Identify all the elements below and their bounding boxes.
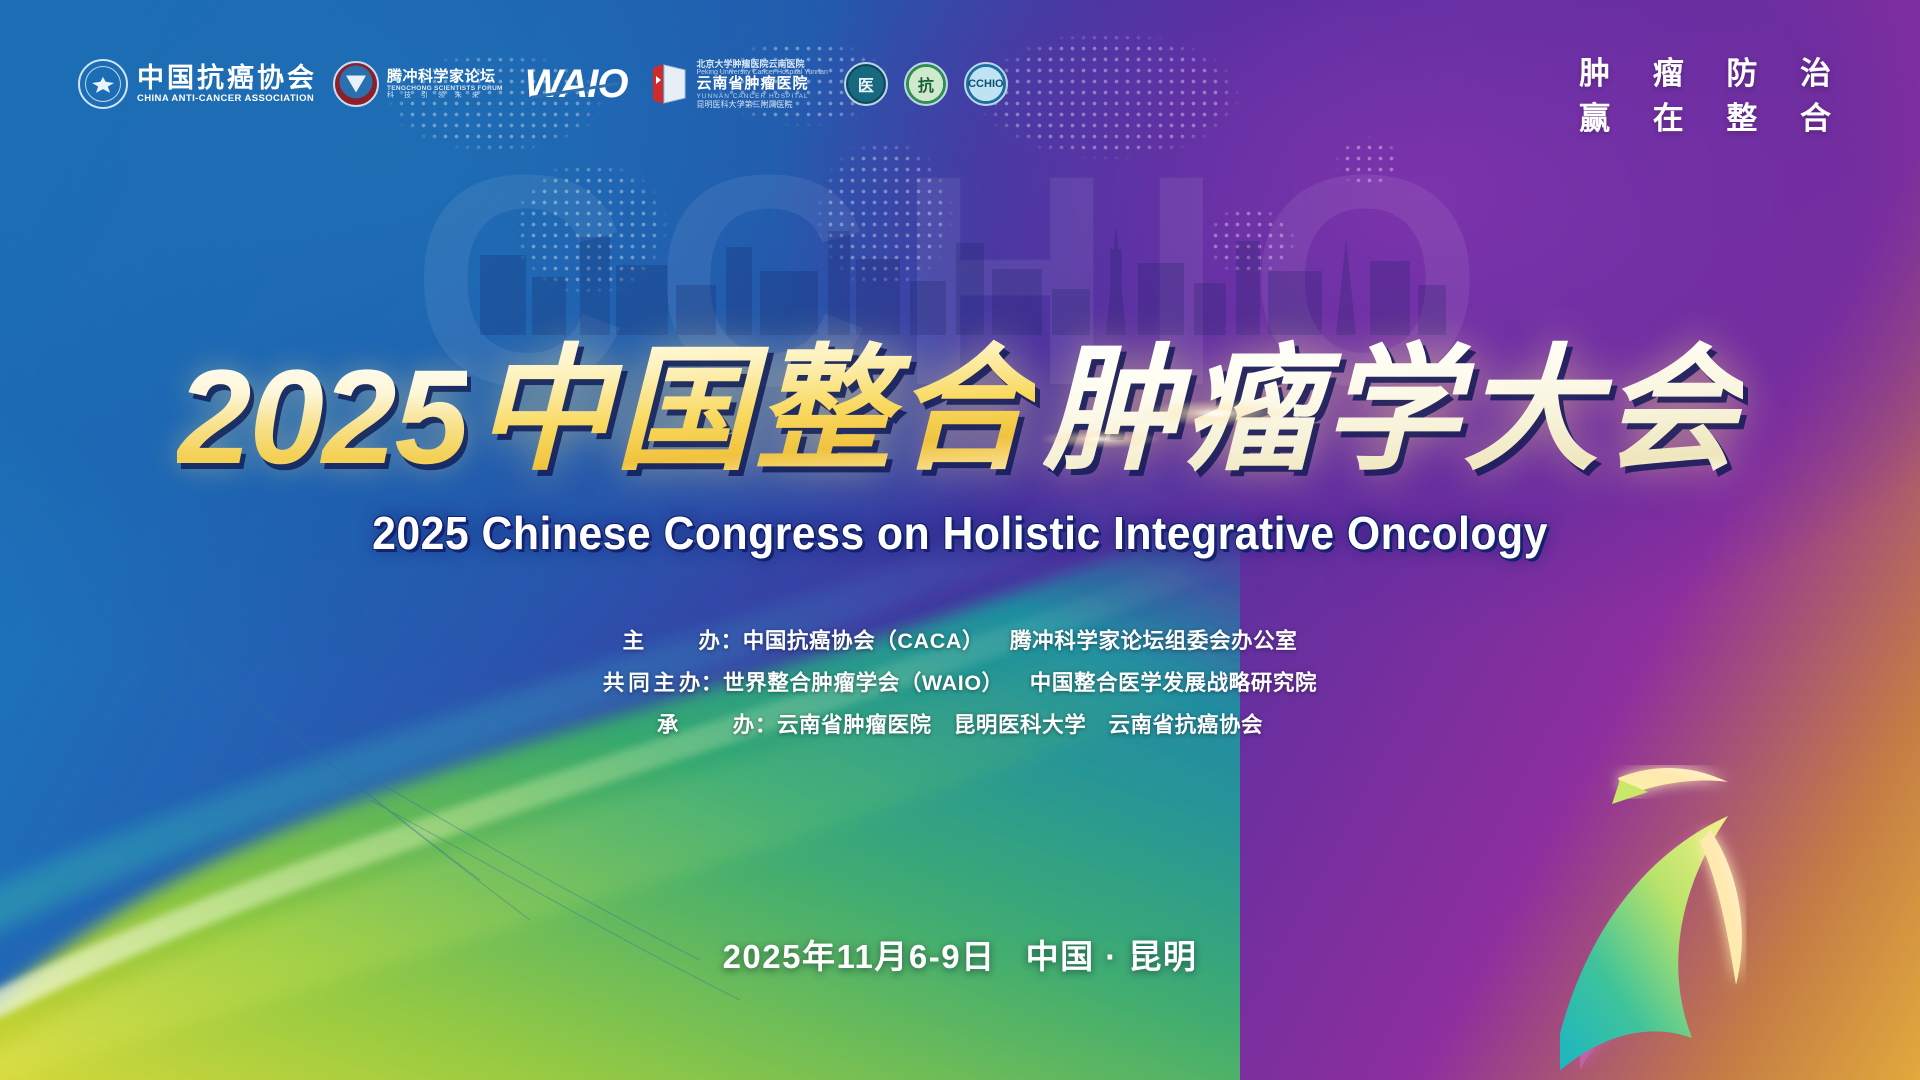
organizer-list: 主办：中国抗癌协会（CACA）腾冲科学家论坛组委会办公室 共同主办：世界整合肿瘤… [0,620,1920,746]
title-cn-gold: 中国整合 [475,330,1035,490]
organizer-row: 主办：中国抗癌协会（CACA）腾冲科学家论坛组委会办公室 [0,620,1920,662]
logo-yunnan-anti-cancer-society: 抗 [904,62,948,106]
slogan-line-1: 肿 瘤 防 治 [1562,52,1848,97]
event-date: 2025年11月6-9日 [723,938,996,975]
tengchong-name-cn: 腾冲科学家论坛 [387,68,503,85]
yacs-glyph: 抗 [918,72,934,96]
title-year: 2025 [177,343,467,492]
title-sparkle-1 [1140,400,1290,426]
logo-kunming-medical-university: 医 [844,62,888,106]
cchio-glyph: CCHIO [968,78,1003,90]
title-sparkle-2 [1040,430,1160,448]
peacock-emblem-decoration [1560,720,1890,1080]
organizer-value: 世界整合肿瘤学会（WAIO） [723,671,1004,695]
yunnan-hospital-mark-icon [649,62,689,106]
organizer-logo-bar: 中国抗癌协会 CHINA ANTI-CANCER ASSOCIATION 腾冲科… [78,48,1008,120]
organizer-value: 云南省肿瘤医院 昆明医科大学 云南省抗癌协会 [777,713,1263,737]
ynch-line3: 云南省肿瘤医院 [696,76,827,93]
slogan-line-2: 赢 在 整 合 [1562,97,1848,142]
organizer-value-2: 腾冲科学家论坛组委会办公室 [1010,629,1297,653]
logo-cchio: CCHIO [964,62,1008,106]
ynch-line5: 昆明医科大学第三附属医院 [696,101,827,110]
tengchong-seal-icon [333,61,379,107]
conference-banner: CCHIO [0,0,1920,1080]
event-location: 中国 · 昆明 [1026,938,1198,975]
english-subtitle: 2025 Chinese Congress on Holistic Integr… [67,506,1853,560]
logo-china-anti-cancer-association: 中国抗癌协会 CHINA ANTI-CANCER ASSOCIATION [78,59,317,109]
kmmu-glyph: 医 [858,72,874,96]
organizer-label: 主办 [623,620,721,662]
main-title: 2025中国整合肿瘤学大会 [0,300,1920,497]
organizer-row: 共同主办：世界整合肿瘤学会（WAIO）中国整合医学发展战略研究院 [0,662,1920,704]
organizer-row: 承办：云南省肿瘤医院 昆明医科大学 云南省抗癌协会 [0,704,1920,746]
tengchong-tagline: 科 技 引 领 未 来 [387,92,503,100]
logo-waio: WAIO [519,62,634,107]
event-date-location: 2025年11月6-9日中国 · 昆明 [0,930,1920,978]
logo-tengchong-scientists-forum: 腾冲科学家论坛 TENGCHONG SCIENTISTS FORUM 科 技 引… [333,61,503,107]
conference-slogan: 肿 瘤 防 治 赢 在 整 合 [1562,52,1848,142]
caca-name-en: CHINA ANTI-CANCER ASSOCIATION [137,94,317,104]
logo-yunnan-cancer-hospital: 北京大学肿瘤医院云南医院 Peking University Cancer Ho… [649,59,827,110]
organizer-value-2: 中国整合医学发展战略研究院 [1030,671,1317,695]
caca-seal-icon [78,59,128,109]
ynch-line1: 北京大学肿瘤医院云南医院 [696,59,827,69]
organizer-label: 承办 [657,704,755,746]
organizer-value: 中国抗癌协会（CACA） [743,629,984,653]
caca-name-cn: 中国抗癌协会 [137,64,317,92]
organizer-label: 共同主办 [603,662,701,704]
